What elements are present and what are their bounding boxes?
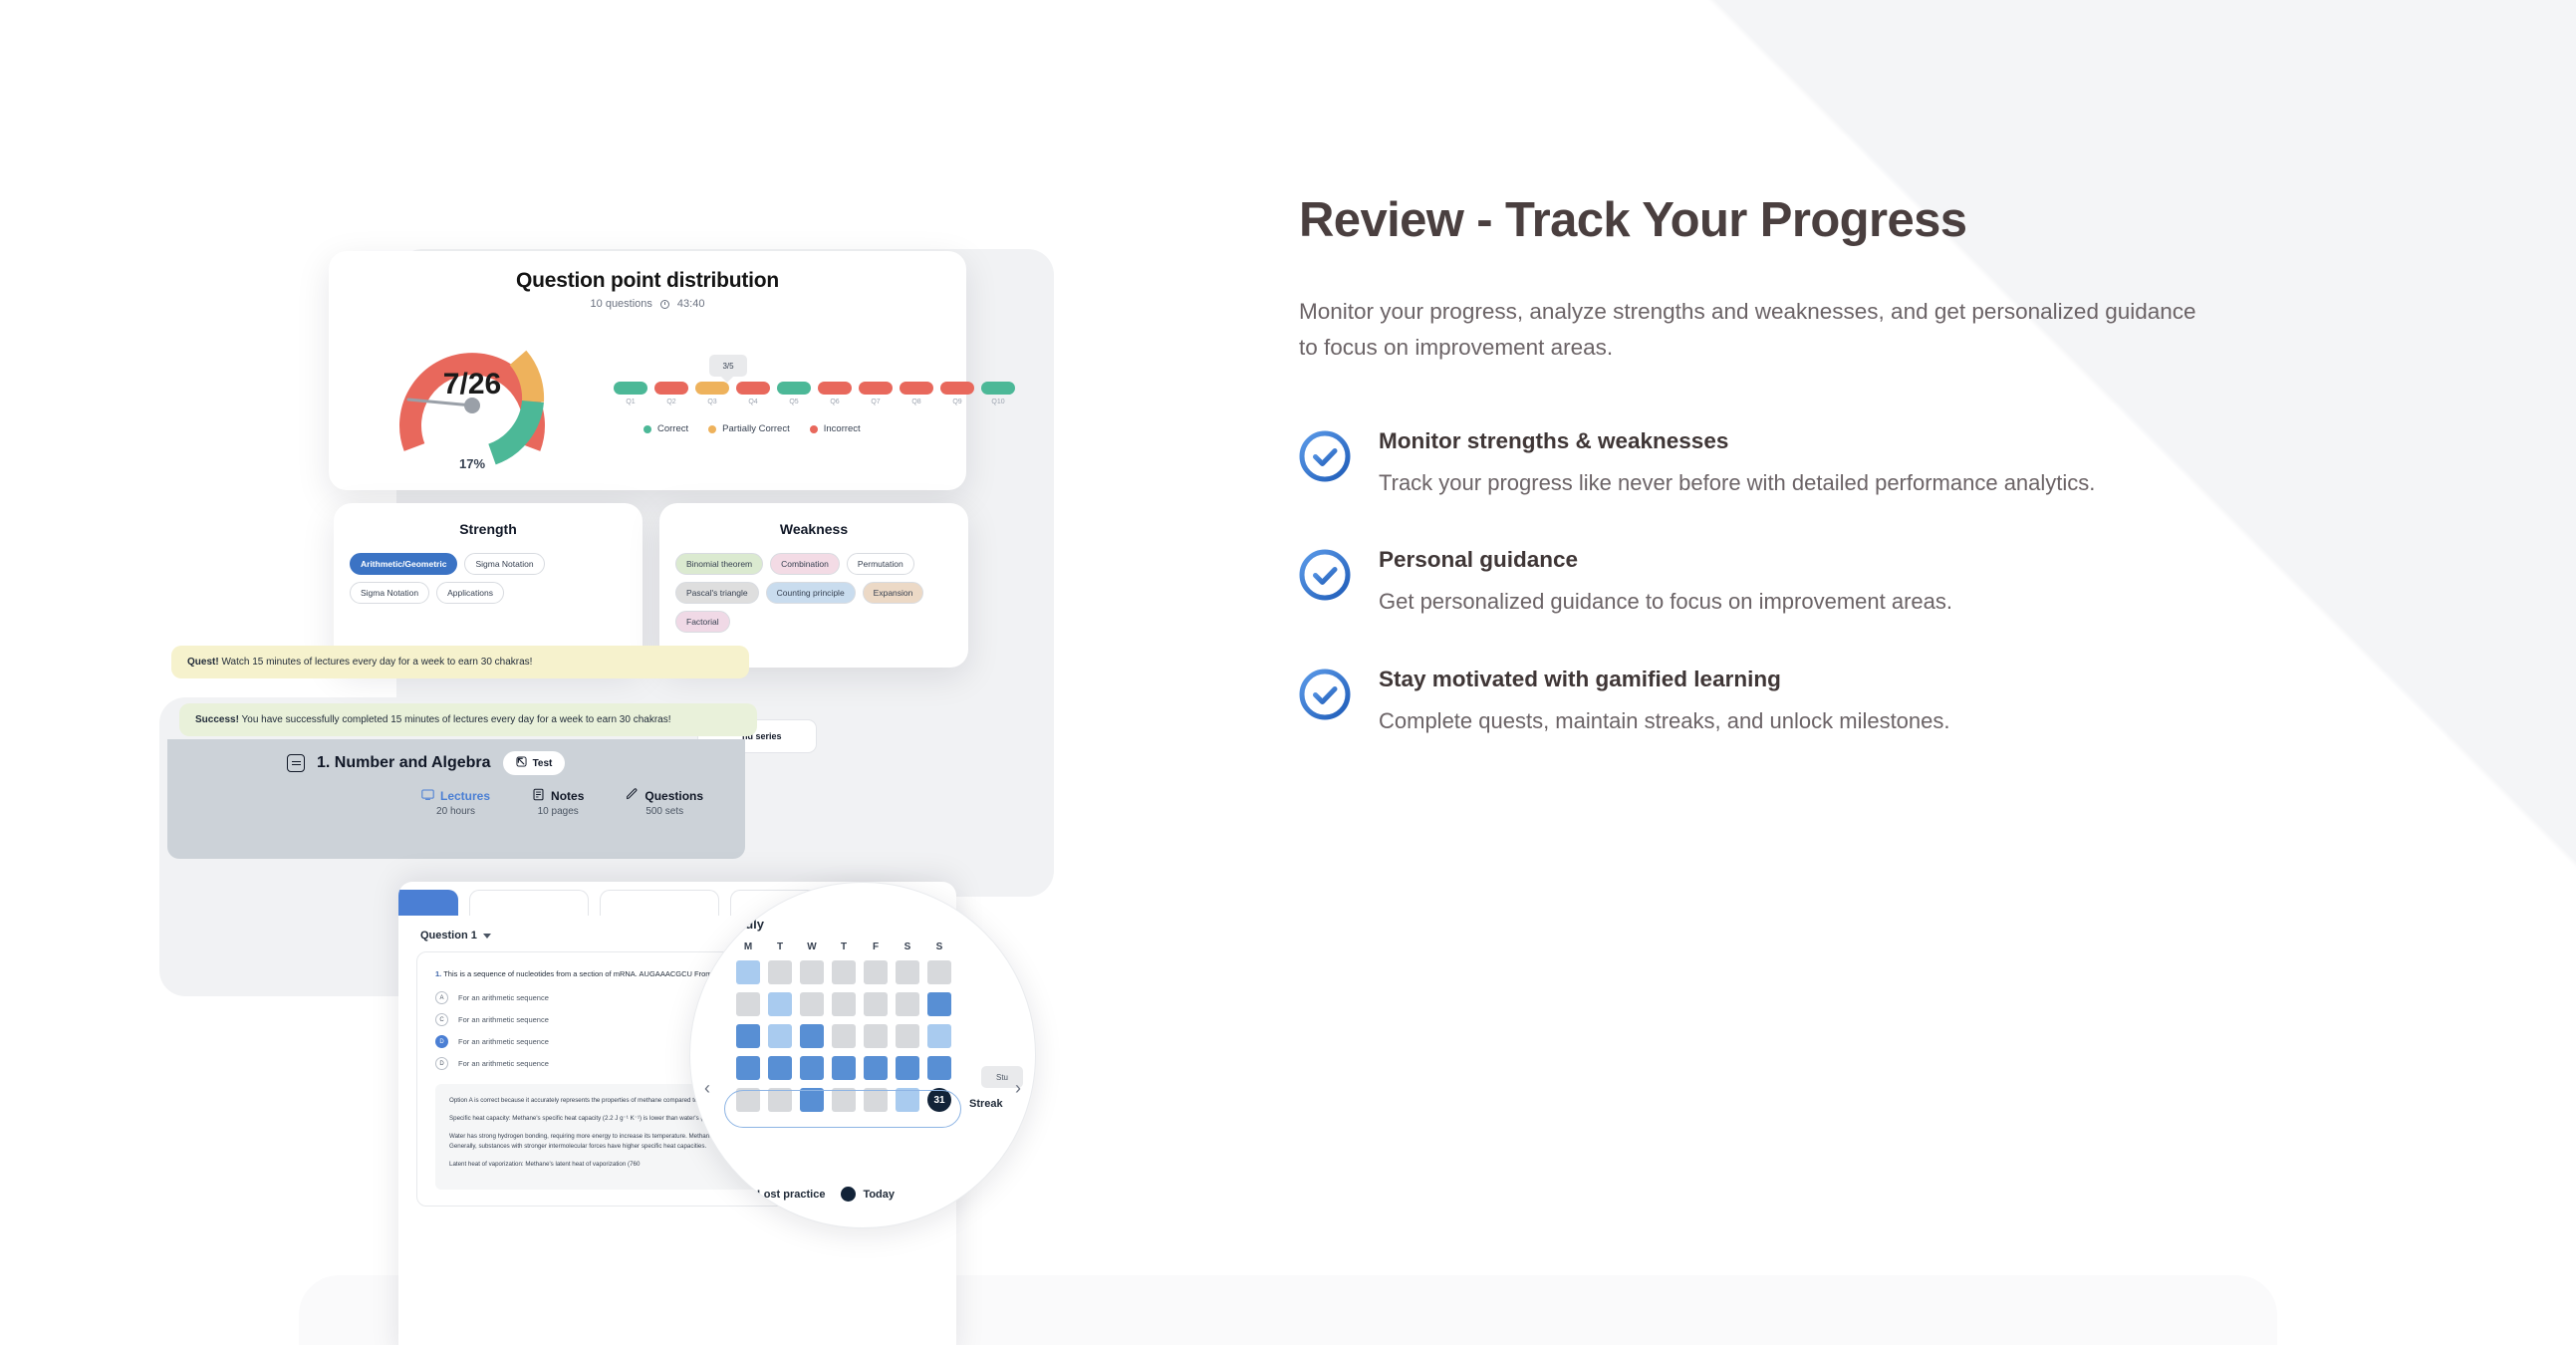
- calendar-week-row: [736, 1056, 995, 1080]
- calendar-weekday: F: [864, 941, 888, 952]
- page-root: Question point distribution 10 questions…: [0, 0, 2576, 1345]
- calendar-weekday: S: [927, 941, 951, 952]
- calendar-day-cell[interactable]: [896, 1024, 919, 1048]
- question-pill-label: Q8: [911, 399, 920, 405]
- feature-item: Personal guidanceGet personalized guidan…: [1299, 547, 2255, 620]
- question-result-pills: 3/5 Q1Q2Q3Q4Q5Q6Q7Q8Q9Q10 CorrectPartial…: [614, 355, 1015, 434]
- option-key: C: [435, 1013, 448, 1026]
- question-pill-bar: [818, 382, 852, 395]
- pill-tooltip: 3/5: [709, 355, 747, 377]
- option-text: For an arithmetic sequence: [458, 1015, 549, 1024]
- feature-item: Monitor strengths & weaknessesTrack your…: [1299, 428, 2255, 501]
- quest-banner-label: Quest!: [187, 657, 219, 668]
- question-pill-label: Q10: [991, 399, 1004, 405]
- calendar-day-cell[interactable]: [736, 992, 760, 1016]
- question-pill[interactable]: Q4: [736, 382, 770, 405]
- calendar-weekday: T: [832, 941, 856, 952]
- page-title: Review - Track Your Progress: [1299, 194, 2255, 248]
- course-stat-value: 20 hours: [421, 806, 490, 817]
- gauge-percent-value: 17%: [373, 456, 572, 471]
- feature-title: Personal guidance: [1379, 547, 2255, 573]
- legend-swatch: [841, 1187, 856, 1202]
- option-text: For an arithmetic sequence: [458, 1037, 549, 1046]
- question-pill-bar: [736, 382, 770, 395]
- weakness-tag[interactable]: Combination: [770, 553, 840, 575]
- success-banner-label: Success!: [195, 714, 239, 725]
- course-stat[interactable]: Lectures20 hours: [421, 788, 490, 817]
- calendar-day-cell[interactable]: [896, 992, 919, 1016]
- calendar-weekday-header: MTWTFSS: [736, 941, 995, 952]
- option-key: D: [435, 1035, 448, 1048]
- question-pill-bar: [981, 382, 1015, 395]
- question-pill-label: Q2: [666, 399, 675, 405]
- weakness-tag[interactable]: Expansion: [863, 582, 924, 604]
- calendar-legend-label: Lost practice: [757, 1189, 825, 1201]
- calendar-day-cell[interactable]: [800, 1024, 824, 1048]
- course-row: 1. Number and Algebra Test Lectures20 ho…: [167, 739, 745, 859]
- weakness-card: Weakness Binomial theoremCombinationPerm…: [659, 503, 968, 668]
- legend-label: Correct: [657, 423, 688, 434]
- option-key: D: [435, 1057, 448, 1070]
- legend-label: Incorrect: [824, 423, 861, 434]
- notes-icon: [532, 788, 545, 804]
- calendar-day-cell[interactable]: [896, 1056, 919, 1080]
- legend-dot: [810, 425, 818, 433]
- quest-banner: Quest! Watch 15 minutes of lectures ever…: [171, 646, 749, 678]
- success-banner: Success! You have successfully completed…: [179, 703, 757, 736]
- chevron-right-icon[interactable]: ›: [1015, 1078, 1021, 1099]
- streak-highlight-ring: [724, 1090, 961, 1128]
- question-pill-bar: [859, 382, 893, 395]
- option-key: A: [435, 991, 448, 1004]
- gauge-card-subtitle: 10 questions 43:40: [329, 298, 966, 310]
- calendar-month: July: [738, 917, 995, 932]
- question-pill[interactable]: Q8: [900, 382, 933, 405]
- question-label: Question 1: [420, 930, 477, 941]
- course-title: 1. Number and Algebra: [317, 754, 491, 772]
- feature-description: Complete quests, maintain streaks, and u…: [1379, 703, 2215, 739]
- course-stat[interactable]: Questions500 sets: [626, 788, 703, 817]
- calendar-weekday: M: [736, 941, 760, 952]
- calendar-day-cell[interactable]: [768, 1056, 792, 1080]
- feature-description: Get personalized guidance to focus on im…: [1379, 584, 2215, 620]
- calendar-day-cell[interactable]: [832, 960, 856, 984]
- streak-label: Streak: [969, 1098, 1003, 1110]
- question-pill[interactable]: Q7: [859, 382, 893, 405]
- gauge-card-title: Question point distribution: [329, 269, 966, 293]
- weakness-tag[interactable]: Counting principle: [766, 582, 856, 604]
- strength-card: Strength Arithmetic/GeometricSigma Notat…: [334, 503, 643, 668]
- calendar-legend-item: Lost practice: [735, 1187, 825, 1202]
- check-circle-icon: [1299, 430, 1351, 482]
- question-pill[interactable]: Q6: [818, 382, 852, 405]
- legend-dot: [708, 425, 716, 433]
- question-pill-label: Q5: [789, 399, 798, 405]
- calendar-day-cell[interactable]: [800, 1056, 824, 1080]
- course-stat-value: 10 pages: [532, 806, 584, 817]
- chevron-down-icon: [483, 934, 491, 939]
- test-button[interactable]: Test: [503, 751, 566, 775]
- question-pill-bar: [777, 382, 811, 395]
- strength-tag[interactable]: Arithmetic/Geometric: [350, 553, 457, 575]
- calendar-day-cell[interactable]: [864, 992, 888, 1016]
- calendar-day-cell[interactable]: [736, 1024, 760, 1048]
- quest-banner-text: Watch 15 minutes of lectures every day f…: [219, 657, 533, 668]
- course-stat-label: Questions: [644, 789, 703, 803]
- weakness-title: Weakness: [675, 521, 952, 537]
- calendar-week-row: [736, 992, 995, 1016]
- question-pill[interactable]: Q2: [654, 382, 688, 405]
- question-distribution-card: Question point distribution 10 questions…: [329, 251, 966, 490]
- strength-tag[interactable]: Sigma Notation: [350, 582, 429, 604]
- legend-label: Partially Correct: [722, 423, 790, 434]
- calendar-weekday: T: [768, 941, 792, 952]
- clock-icon: [660, 300, 669, 309]
- weakness-tag[interactable]: Pascal's triangle: [675, 582, 759, 604]
- strength-tag-list: Arithmetic/GeometricSigma NotationSigma …: [350, 553, 627, 604]
- feature-item: Stay motivated with gamified learningCom…: [1299, 667, 2255, 739]
- question-pill-bar: [695, 382, 729, 395]
- calendar-day-cell[interactable]: [927, 960, 951, 984]
- calendar-grid: MTWTFSS 31: [736, 941, 995, 1112]
- legend-dot: [644, 425, 651, 433]
- check-circle-icon: [1299, 669, 1351, 720]
- calendar-day-cell[interactable]: [896, 960, 919, 984]
- question-pill-label: Q4: [748, 399, 757, 405]
- calendar-week-row: [736, 1024, 995, 1048]
- course-stat[interactable]: Notes10 pages: [532, 788, 584, 817]
- calendar-day-cell[interactable]: [832, 1056, 856, 1080]
- question-pill[interactable]: Q5: [777, 382, 811, 405]
- pill-row: Q1Q2Q3Q4Q5Q6Q7Q8Q9Q10: [614, 382, 1015, 405]
- question-pill-bar: [654, 382, 688, 395]
- test-button-label: Test: [533, 758, 553, 769]
- calendar-week-row: [736, 960, 995, 984]
- feature-title: Monitor strengths & weaknesses: [1379, 428, 2255, 454]
- question-pill-label: Q9: [952, 399, 961, 405]
- feature-title: Stay motivated with gamified learning: [1379, 667, 2255, 692]
- lecture-icon: [421, 788, 434, 804]
- calendar-day-cell[interactable]: [864, 1024, 888, 1048]
- weakness-tag-list: Binomial theoremCombinationPermutationPa…: [675, 553, 952, 633]
- legend-item: Correct: [644, 423, 688, 434]
- calendar-legend-item: Today: [841, 1187, 895, 1202]
- external-link-icon: [516, 756, 527, 770]
- calendar-legend: ticeLost practiceToday: [700, 1187, 895, 1202]
- calendar-weekday: W: [800, 941, 824, 952]
- weakness-tag[interactable]: Permutation: [847, 553, 914, 575]
- calendar-legend-label: Today: [863, 1189, 895, 1201]
- streak-calendar: July MTWTFSS 31: [690, 883, 1035, 1227]
- question-pill-label: Q6: [830, 399, 839, 405]
- option-text: For an arithmetic sequence: [458, 993, 549, 1002]
- calendar-day-cell[interactable]: [864, 1056, 888, 1080]
- calendar-day-cell[interactable]: [768, 1024, 792, 1048]
- course-stat-value: 500 sets: [626, 806, 703, 817]
- product-mockup-stack: Question point distribution 10 questions…: [0, 0, 1175, 1345]
- option-text: For an arithmetic sequence: [458, 1059, 549, 1068]
- question-pill[interactable]: Q9: [940, 382, 974, 405]
- calendar-day-cell[interactable]: [832, 992, 856, 1016]
- hero-content: Review - Track Your Progress Monitor you…: [1299, 194, 2255, 739]
- feature-list: Monitor strengths & weaknessesTrack your…: [1299, 428, 2255, 739]
- pencil-icon: [626, 788, 639, 804]
- course-stats: Lectures20 hoursNotes10 pagesQuestions50…: [167, 788, 745, 817]
- calendar-weekday: S: [896, 941, 919, 952]
- chevron-left-icon[interactable]: ‹: [704, 1078, 710, 1099]
- calendar-day-cell[interactable]: [800, 992, 824, 1016]
- strength-tag[interactable]: Applications: [436, 582, 504, 604]
- calendar-day-cell[interactable]: [864, 960, 888, 984]
- strength-tag[interactable]: Sigma Notation: [464, 553, 544, 575]
- calendar-day-cell[interactable]: [927, 1024, 951, 1048]
- question-pill[interactable]: Q1: [614, 382, 647, 405]
- feature-description: Track your progress like never before wi…: [1379, 465, 2215, 501]
- legend-swatch: [735, 1187, 750, 1202]
- course-stat-label: Lectures: [440, 789, 490, 803]
- legend-item: Incorrect: [810, 423, 861, 434]
- calendar-day-cell[interactable]: [927, 992, 951, 1016]
- question-pill-label: Q7: [871, 399, 880, 405]
- strength-title: Strength: [350, 521, 627, 537]
- calendar-legend-label: tice: [700, 1189, 719, 1201]
- weakness-tag[interactable]: Factorial: [675, 611, 730, 633]
- calendar-day-cell[interactable]: [800, 960, 824, 984]
- question-pill-bar: [900, 382, 933, 395]
- question-pill[interactable]: Q10: [981, 382, 1015, 405]
- gauge-score-value: 7/26: [373, 368, 572, 402]
- calendar-day-cell[interactable]: [832, 1024, 856, 1048]
- list-icon: [287, 754, 305, 772]
- calendar-legend-item: tice: [700, 1189, 719, 1201]
- tab-active[interactable]: [398, 890, 458, 916]
- calendar-day-cell[interactable]: [927, 1056, 951, 1080]
- timer-value: 43:40: [677, 298, 705, 310]
- question-pill-bar: [614, 382, 647, 395]
- calendar-day-cell[interactable]: [768, 992, 792, 1016]
- calendar-day-cell[interactable]: [736, 960, 760, 984]
- success-banner-text: You have successfully completed 15 minut…: [239, 714, 671, 725]
- score-gauge: 7/26 17%: [373, 320, 572, 469]
- magnifier-lens: July MTWTFSS 31 Streak Stu ‹ › ticeLost …: [689, 882, 1036, 1228]
- tab-2[interactable]: [469, 890, 589, 916]
- question-pill-bar: [940, 382, 974, 395]
- course-stat-label: Notes: [551, 789, 584, 803]
- calendar-day-cell[interactable]: [736, 1056, 760, 1080]
- check-circle-icon: [1299, 549, 1351, 601]
- hero-description: Monitor your progress, analyze strengths…: [1299, 294, 2200, 367]
- weakness-tag[interactable]: Binomial theorem: [675, 553, 763, 575]
- question-pill-label: Q3: [707, 399, 716, 405]
- question-pill-label: Q1: [626, 399, 635, 405]
- calendar-day-cell[interactable]: [768, 960, 792, 984]
- question-pill[interactable]: Q3: [695, 382, 729, 405]
- question-count: 10 questions: [591, 298, 652, 310]
- result-legend: CorrectPartially CorrectIncorrect: [644, 423, 1015, 434]
- legend-item: Partially Correct: [708, 423, 790, 434]
